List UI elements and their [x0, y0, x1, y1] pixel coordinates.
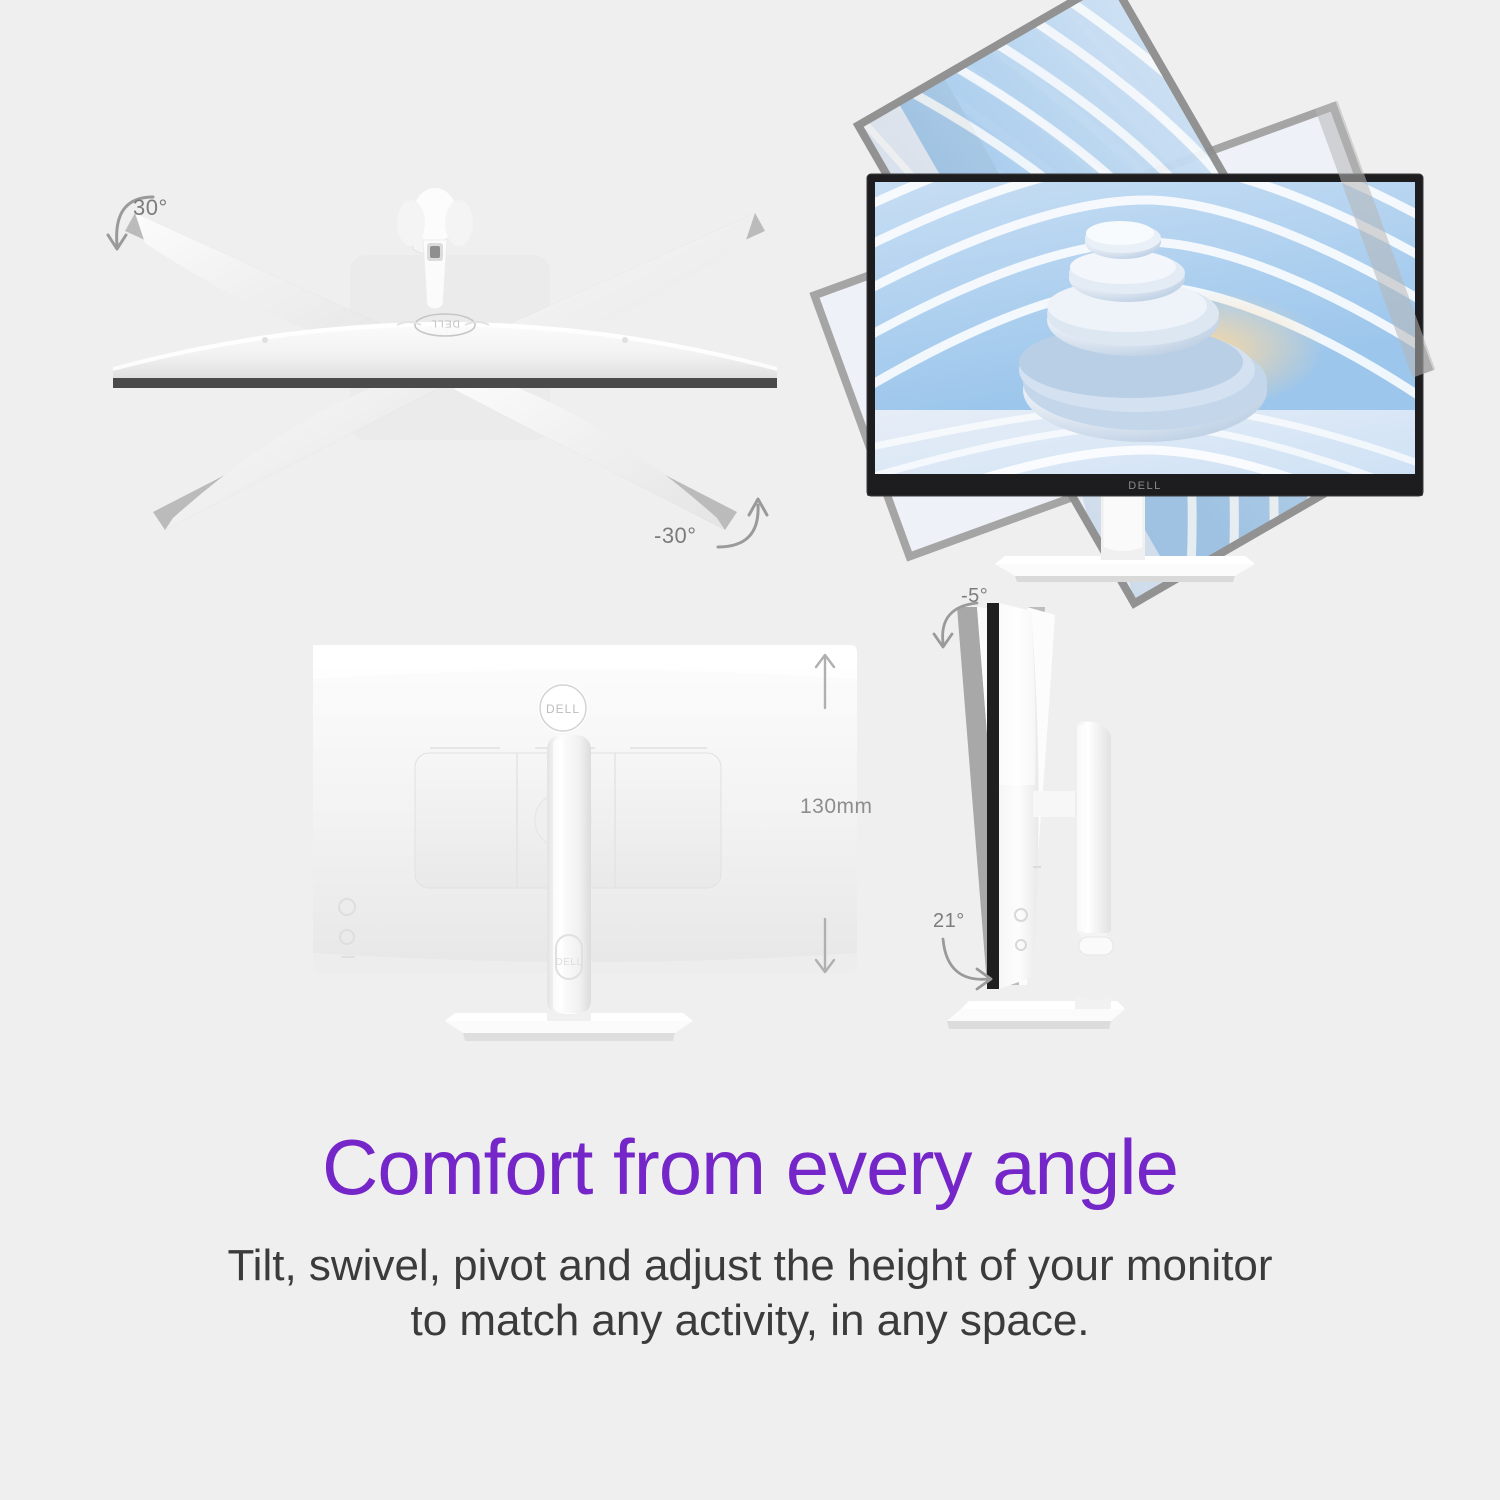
tilt-forward-label: 21° [933, 910, 965, 933]
subcopy-line-1: Tilt, swivel, pivot and adjust the heigh… [0, 1238, 1500, 1293]
swivel-negative-arrow-icon [700, 485, 790, 575]
marketing-canvas: DELL 30° [0, 0, 1500, 1500]
pivot-main-monitor: DELL [867, 174, 1423, 496]
tilt-back-label: -5° [961, 585, 988, 608]
pivot-illustration: DELL [815, 0, 1475, 610]
height-down-arrow-icon [805, 915, 845, 977]
tilt-forward-arrow-icon [933, 925, 1013, 1005]
height-measurement-label: 130mm [800, 795, 873, 819]
svg-text:DELL: DELL [546, 702, 580, 716]
dell-logo-pivot: DELL [1128, 480, 1162, 492]
swivel-illustration: DELL 30° [105, 185, 785, 555]
dell-logo-height: DELL [538, 683, 588, 733]
page-headline: Comfort from every angle [0, 1128, 1500, 1206]
tilt-stand-pillar [1075, 722, 1113, 956]
subcopy-line-2: to match any activity, in any space. [0, 1293, 1500, 1348]
tilt-illustration: -5° 21° [915, 585, 1195, 1065]
swivel-negative-label: -30° [654, 523, 697, 549]
swivel-positive-label: 30° [133, 195, 168, 221]
page-subcopy: Tilt, swivel, pivot and adjust the heigh… [0, 1238, 1500, 1348]
svg-text:DELL: DELL [430, 318, 460, 329]
svg-text:DELL: DELL [555, 957, 582, 968]
height-up-arrow-icon [805, 650, 845, 712]
height-illustration: DELL DELL 130mm [295, 635, 885, 1065]
